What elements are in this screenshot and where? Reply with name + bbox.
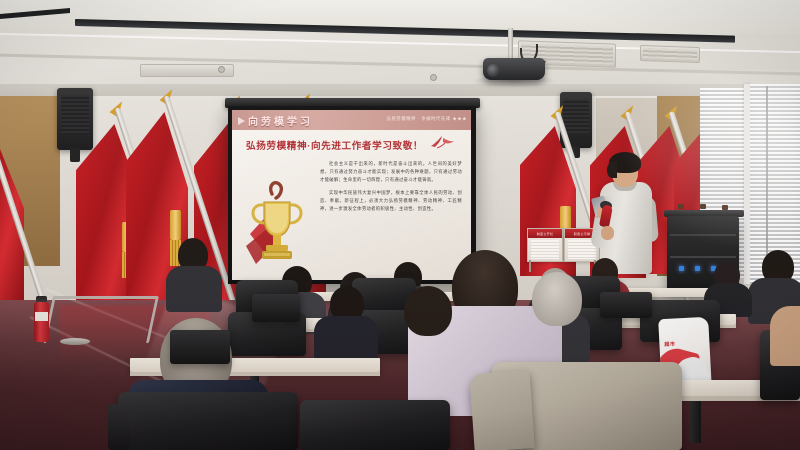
sprinkler-head: [430, 74, 437, 81]
av-rack-knob-2: [700, 204, 706, 209]
presenter-hair-side: [607, 162, 617, 178]
chair-front-khaki-drape: [469, 370, 534, 450]
attendee-torso-9: [314, 316, 378, 362]
slide-header-bar: 向劳模学习 弘扬劳模精神 · 争做时代先锋 ★★★: [232, 110, 471, 130]
wall-sign-1: 制度公开栏: [527, 228, 563, 262]
blind-cord: [766, 86, 768, 266]
attendee-head-14: [404, 286, 452, 336]
sprinkler-head-2: [218, 66, 225, 73]
ceiling: [0, 0, 800, 108]
chair-front-1-arm: [108, 404, 130, 450]
air-vent-small: [640, 45, 700, 63]
chair-front-1: [118, 392, 298, 450]
av-rack-led-1: [679, 266, 684, 271]
wall-sign-1-body: [531, 240, 559, 259]
wall-sign-1-heading: 制度公开栏: [528, 231, 562, 236]
av-rack-shelf-2: [670, 256, 736, 258]
meeting-room-photo: 向劳模学习 弘扬劳模精神 · 争做时代先锋 ★★★ 弘扬劳模精神·向先进工作者学…: [0, 0, 800, 450]
av-rack-led-2: [695, 266, 700, 271]
slide-header-subtitle: 弘扬劳模精神 · 争做时代先锋 ★★★: [387, 116, 467, 122]
wall-speaker-left-mount: [70, 148, 80, 162]
slide-body-text: 社会主义是干出来的，新时代是奋斗出来的。人世间的美好梦想，只有通过努力奋斗才能实…: [320, 160, 462, 217]
fire-extinguisher-label: [35, 312, 48, 321]
desk-monitor-3: [600, 292, 652, 318]
flag-tassel-5: [170, 210, 181, 240]
shopping-bag-text: 超市: [664, 341, 675, 349]
av-rack-knob-1: [678, 204, 684, 209]
desk-monitor-1-stand: [268, 322, 284, 328]
chair-front-2: [300, 400, 450, 450]
slide-main-title: 弘扬劳模精神·向先进工作者学习致敬！: [246, 138, 423, 152]
projector-lens: [487, 64, 500, 77]
desk-monitor-2: [170, 330, 230, 364]
flag-stand-base: [60, 338, 90, 345]
slide-paragraph-1: 社会主义是干出来的，新时代是奋斗出来的。人世间的美好梦想，只有通过努力奋斗才能实…: [320, 160, 462, 185]
slide-header-title: 向劳模学习: [248, 113, 313, 128]
presentation-slide: 向劳模学习 弘扬劳模精神 · 争做时代先锋 ★★★ 弘扬劳模精神·向先进工作者学…: [232, 110, 471, 280]
av-rack-knob-3: [722, 205, 728, 210]
chrome-flag-stand: [43, 296, 159, 343]
presenter-right-hand: [601, 226, 614, 240]
desk-monitor-1: [252, 294, 300, 322]
air-vent-small-louvers: [643, 48, 697, 60]
desk-row-3-right-leg: [690, 401, 701, 443]
arrow-icon: [238, 117, 245, 125]
wall-sign-stand-left: [529, 260, 531, 272]
av-rack-shelf-1: [670, 234, 736, 236]
slide-paragraph-2: 实现中华民族伟大复兴中国梦，根本上要靠全体人民的劳动、创造、奉献。新征程上，必须…: [320, 189, 462, 214]
flying-bird-icon: [429, 135, 455, 151]
attendee-torso-1: [166, 266, 222, 312]
wall-speaker-left: [57, 88, 93, 150]
fire-extinguisher: [34, 302, 49, 342]
attendee-head-13: [532, 272, 582, 326]
trophy-graphic: [246, 176, 308, 268]
wall-sign-1-header: 制度公开栏: [528, 229, 562, 238]
attendee-torso-15: [770, 306, 800, 366]
